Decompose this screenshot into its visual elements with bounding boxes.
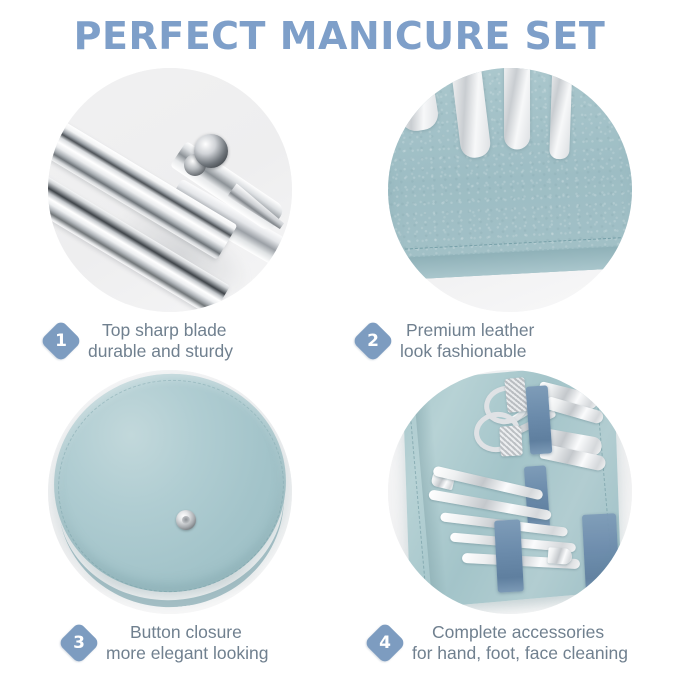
- feature-badge-1: 1: [44, 324, 78, 358]
- feature-cell-2: 2 Premium leather look fashionable: [340, 68, 679, 370]
- caption-line-1: Top sharp blade: [88, 320, 233, 341]
- tool-nail-file-mid: [499, 425, 523, 456]
- caption-line-2: for hand, foot, face cleaning: [412, 643, 628, 664]
- feature-photo-1: [48, 68, 292, 312]
- caption-line-1: Button closure: [106, 622, 268, 643]
- feature-photo-3: [48, 370, 292, 614]
- open-case-photo: [388, 370, 632, 614]
- feature-caption-2: 2 Premium leather look fashionable: [340, 312, 679, 370]
- nail-clipper-illustration: [48, 68, 292, 312]
- feature-badge-number: 4: [368, 626, 402, 660]
- feature-badge-number: 1: [44, 324, 78, 358]
- tool-bottom-tip: [547, 547, 572, 565]
- caption-line-2: durable and sturdy: [88, 341, 233, 362]
- infographic-page: PERFECT MANICURE SET: [0, 0, 679, 679]
- feature-caption-text-1: Top sharp blade durable and sturdy: [88, 320, 233, 362]
- feature-caption-1: 1 Top sharp blade durable and sturdy: [0, 312, 339, 370]
- feature-caption-text-4: Complete accessories for hand, foot, fac…: [412, 622, 628, 664]
- caption-line-2: more elegant looking: [106, 643, 268, 664]
- feature-badge-2: 2: [356, 324, 390, 358]
- feature-badge-3: 3: [62, 626, 96, 660]
- caption-line-1: Complete accessories: [412, 622, 628, 643]
- feature-photo-4: [388, 370, 632, 614]
- page-title-text: PERFECT MANICURE SET: [0, 14, 679, 58]
- caption-line-1: Premium leather: [400, 320, 534, 341]
- feature-caption-text-3: Button closure more elegant looking: [106, 622, 268, 664]
- snap-button-center: [182, 516, 190, 524]
- feature-cell-3: 3 Button closure more elegant looking: [0, 370, 339, 672]
- elastic-strap-bottom: [494, 519, 524, 592]
- feature-caption-3: 3 Button closure more elegant looking: [0, 614, 339, 672]
- feature-badge-4: 4: [368, 626, 402, 660]
- clipper-pivot-rivet: [194, 134, 228, 168]
- nail-clipper-photo: [48, 68, 292, 312]
- leather-pocket-right: [581, 513, 619, 595]
- feature-cell-4: 4 Complete accessories for hand, foot, f…: [340, 370, 679, 672]
- feature-badge-number: 2: [356, 324, 390, 358]
- feature-photo-2: [388, 68, 632, 312]
- page-title: PERFECT MANICURE SET: [0, 14, 679, 58]
- feature-badge-number: 3: [62, 626, 96, 660]
- feature-caption-text-2: Premium leather look fashionable: [400, 320, 534, 362]
- tool-cleaner: [504, 68, 530, 149]
- leather-case-photo: [388, 68, 632, 312]
- feature-cell-1: 1 Top sharp blade durable and sturdy: [0, 68, 339, 370]
- leather-flap: [388, 68, 632, 280]
- tool-nail-file-top: [504, 377, 527, 413]
- caption-line-2: look fashionable: [400, 341, 534, 362]
- feature-caption-4: 4 Complete accessories for hand, foot, f…: [340, 614, 679, 672]
- closed-case-photo: [48, 370, 292, 614]
- elastic-strap-top: [525, 385, 552, 454]
